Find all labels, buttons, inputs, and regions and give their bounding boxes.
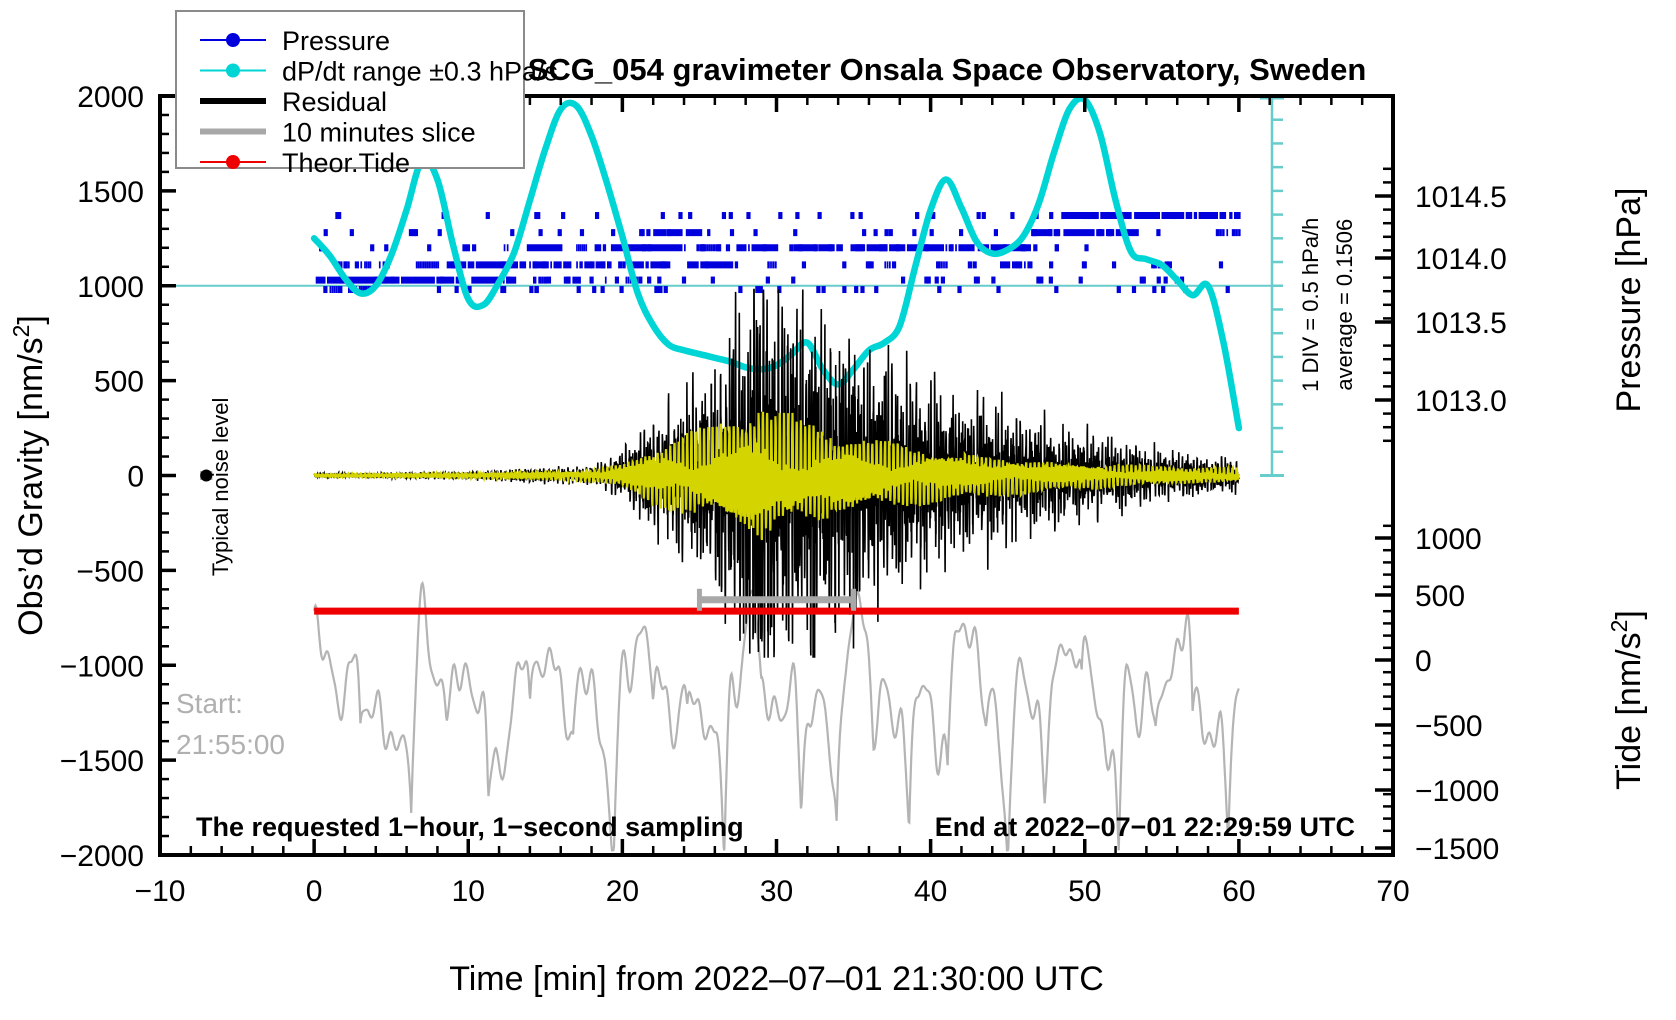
pressure-sample: [678, 212, 682, 219]
pressure-sample: [789, 244, 793, 251]
pressure-sample: [973, 261, 977, 268]
pressure-sample: [818, 212, 822, 219]
pressure-sample: [968, 261, 972, 268]
pressure-sample: [688, 212, 692, 219]
pressure-sample: [607, 261, 611, 268]
pressure-sample: [828, 244, 832, 251]
pressure-sample: [384, 244, 388, 251]
pressure-sample: [619, 286, 623, 293]
y-axis-tide-title: Tide [nm/s2]: [1606, 610, 1648, 790]
pressure-sample: [814, 244, 818, 251]
pressure-sample: [722, 212, 726, 219]
pressure-sample: [1084, 244, 1088, 251]
pressure-sample: [1083, 261, 1087, 268]
dpdt-average-label: average = 0.1506: [1332, 219, 1357, 391]
pressure-sample: [601, 286, 605, 293]
pressure-sample: [957, 286, 961, 293]
pressure-sample: [1021, 244, 1025, 251]
pressure-sample: [842, 286, 846, 293]
pressure-sample: [937, 286, 941, 293]
pressure-sample: [654, 286, 658, 293]
pressure-sample: [1054, 286, 1058, 293]
pressure-axis-tick-label: 1013.5: [1415, 307, 1507, 340]
tide-axis-tick-label: 500: [1415, 580, 1465, 613]
pressure-sample: [1164, 277, 1168, 284]
pressure-sample: [566, 277, 570, 284]
legend-label: dP/dt range ±0.3 hPa/s: [282, 57, 558, 87]
pressure-sample: [901, 277, 905, 284]
x-axis-tick-label: 70: [1376, 875, 1409, 908]
pressure-sample: [883, 244, 887, 251]
pressure-sample: [589, 277, 593, 284]
pressure-sample: [991, 277, 995, 284]
pressure-sample: [912, 229, 916, 236]
pressure-sample: [1142, 277, 1146, 284]
pressure-sample: [859, 244, 863, 251]
x-axis-tick-label: 10: [452, 875, 485, 908]
y-axis-tick-label: 1500: [77, 176, 144, 209]
start-label: Start:: [176, 688, 243, 719]
pressure-sample: [638, 277, 642, 284]
pressure-sample: [558, 229, 562, 236]
tide-axis-tick-label: 1000: [1415, 523, 1482, 556]
pressure-sample: [1098, 229, 1102, 236]
pressure-sample: [889, 229, 893, 236]
pressure-sample: [1171, 212, 1175, 219]
pressure-sample: [793, 229, 797, 236]
pressure-sample: [1161, 286, 1165, 293]
pressure-sample: [866, 261, 870, 268]
pressure-sample: [335, 212, 339, 219]
pressure-sample: [915, 212, 919, 219]
pressure-sample: [595, 212, 599, 219]
legend-label: Residual: [282, 87, 387, 117]
pressure-sample: [802, 261, 806, 268]
pressure-sample: [533, 261, 537, 268]
x-axis-title: Time [min] from 2022–07–01 21:30:00 UTC: [449, 960, 1104, 998]
x-axis-tick-label: 30: [760, 875, 793, 908]
pressure-sample: [1033, 244, 1037, 251]
pressure-sample: [664, 286, 668, 293]
x-axis-tick-label: 50: [1068, 875, 1101, 908]
pressure-sample: [618, 261, 622, 268]
pressure-sample: [798, 244, 802, 251]
legend-label: 10 minutes slice: [282, 118, 476, 148]
dpdt-div-label: 1 DIV = 0.5 hPa/h: [1298, 218, 1323, 392]
pressure-sample: [661, 212, 665, 219]
pressure-sample: [1049, 261, 1053, 268]
chart-title: SCG_054 gravimeter Onsala Space Observat…: [528, 52, 1367, 87]
pressure-sample: [561, 212, 565, 219]
pressure-sample: [1132, 286, 1136, 293]
pressure-sample: [370, 244, 374, 251]
pressure-sample: [611, 229, 615, 236]
pressure-sample: [976, 277, 980, 284]
pressure-sample: [472, 244, 476, 251]
pressure-sample: [746, 212, 750, 219]
pressure-sample: [1087, 212, 1091, 219]
pressure-sample: [1157, 277, 1161, 284]
pressure-sample: [437, 286, 441, 293]
pressure-sample: [324, 229, 328, 236]
pressure-sample: [935, 277, 939, 284]
tide-axis-tick-label: −1000: [1415, 775, 1499, 808]
pressure-sample: [1049, 212, 1053, 219]
pressure-sample: [440, 277, 444, 284]
pressure-sample: [502, 286, 506, 293]
pressure-sample: [427, 244, 431, 251]
pressure-sample: [896, 244, 900, 251]
pressure-sample: [355, 261, 359, 268]
pressure-sample: [1226, 286, 1230, 293]
y-axis-pressure-title: Pressure [hPa]: [1610, 188, 1648, 413]
pressure-sample: [996, 286, 1000, 293]
pressure-sample: [705, 261, 709, 268]
pressure-sample: [1112, 261, 1116, 268]
pressure-sample: [642, 244, 646, 251]
pressure-sample: [592, 286, 596, 293]
chart-figure: 1 DIV = 0.5 hPa/haverage = 0.1506Typical…: [0, 0, 1676, 1020]
legend-marker: [226, 33, 240, 47]
y-axis-tick-label: 1000: [77, 271, 144, 304]
pressure-sample: [338, 286, 342, 293]
pressure-axis-tick-label: 1013.0: [1415, 385, 1507, 418]
pressure-sample: [1219, 261, 1223, 268]
pressure-sample: [1055, 229, 1059, 236]
pressure-sample: [666, 229, 670, 236]
pressure-sample: [862, 229, 866, 236]
pressure-axis-tick-label: 1014.0: [1415, 243, 1507, 276]
tide-axis-tick-label: −500: [1415, 710, 1483, 743]
pressure-sample: [766, 277, 770, 284]
pressure-sample: [615, 277, 619, 284]
pressure-sample: [717, 244, 721, 251]
pressure-sample: [850, 212, 854, 219]
pressure-sample: [791, 277, 795, 284]
pressure-sample: [711, 277, 715, 284]
footer-right-note: End at 2022−07−01 22:29:59 UTC: [935, 812, 1355, 842]
x-axis-tick-label: 40: [914, 875, 947, 908]
pressure-sample: [663, 261, 667, 268]
pressure-sample: [892, 261, 896, 268]
pressure-sample: [350, 229, 354, 236]
pressure-sample: [658, 286, 662, 293]
x-axis-tick-label: 20: [606, 875, 639, 908]
pressure-sample: [959, 229, 963, 236]
pressure-sample: [647, 244, 651, 251]
pressure-sample: [1048, 229, 1052, 236]
pressure-sample: [729, 212, 733, 219]
y-axis-tick-label: −1000: [60, 650, 144, 683]
y-axis-tick-label: 500: [94, 366, 144, 399]
pressure-sample: [1127, 212, 1131, 219]
x-axis-tick-label: −10: [135, 875, 186, 908]
pressure-sample: [409, 229, 413, 236]
pressure-sample: [414, 229, 418, 236]
legend-label: Theor.Tide: [282, 148, 410, 178]
pressure-sample: [542, 261, 546, 268]
legend-marker: [226, 64, 240, 78]
pressure-sample: [646, 229, 650, 236]
pressure-sample: [936, 261, 940, 268]
pressure-sample: [982, 212, 986, 219]
pressure-sample: [874, 229, 878, 236]
pressure-sample: [1156, 229, 1160, 236]
pressure-sample: [462, 244, 466, 251]
pressure-sample: [821, 286, 825, 293]
pressure-sample: [884, 229, 888, 236]
y-axis-tick-label: −2000: [60, 840, 144, 873]
y-axis-tick-label: −1500: [60, 745, 144, 778]
pressure-sample: [730, 229, 734, 236]
pressure-sample: [391, 277, 395, 284]
pressure-sample: [647, 277, 651, 284]
pressure-sample: [753, 229, 757, 236]
pressure-sample: [536, 212, 540, 219]
pressure-sample: [925, 244, 929, 251]
pressure-sample: [1055, 244, 1059, 251]
pressure-sample: [639, 229, 643, 236]
legend-marker: [226, 155, 240, 169]
pressure-sample: [977, 212, 981, 219]
pressure-sample: [854, 286, 858, 293]
pressure-sample: [1083, 212, 1087, 219]
pressure-sample: [580, 229, 584, 236]
pressure-sample: [1092, 212, 1096, 219]
pressure-sample: [726, 244, 730, 251]
pressure-sample: [577, 286, 581, 293]
pressure-sample: [682, 277, 686, 284]
footer-left-note: The requested 1−hour, 1−second sampling: [196, 812, 744, 842]
pressure-sample: [1033, 229, 1037, 236]
pressure-sample: [701, 244, 705, 251]
tide-axis-tick-label: −1500: [1415, 833, 1499, 866]
pressure-sample: [926, 277, 930, 284]
pressure-sample: [1061, 212, 1065, 219]
pressure-sample: [343, 261, 347, 268]
start-time: 21:55:00: [176, 729, 285, 760]
chart-svg: 1 DIV = 0.5 hPa/haverage = 0.1506Typical…: [0, 0, 1676, 1020]
pressure-sample: [994, 229, 998, 236]
pressure-sample: [816, 286, 820, 293]
pressure-axis-tick-label: 1014.5: [1415, 181, 1507, 214]
pressure-sample: [510, 229, 514, 236]
pressure-sample: [486, 212, 490, 219]
pressure-sample: [323, 286, 327, 293]
pressure-sample: [874, 286, 878, 293]
pressure-sample: [657, 277, 661, 284]
y-axis-left-title: Obs’d Gravity [nm/s2]: [8, 315, 50, 636]
pressure-sample: [438, 229, 442, 236]
pressure-sample: [855, 244, 859, 251]
x-axis-tick-label: 0: [306, 875, 323, 908]
pressure-sample: [1016, 261, 1020, 268]
typical-noise-level-label: Typical noise level: [208, 398, 233, 577]
y-axis-tick-label: 0: [127, 461, 144, 494]
pressure-sample: [795, 212, 799, 219]
pressure-sample: [547, 277, 551, 284]
x-axis-tick-label: 60: [1222, 875, 1255, 908]
pressure-sample: [738, 286, 742, 293]
pressure-sample: [949, 244, 953, 251]
pressure-sample: [778, 212, 782, 219]
legend-label: Pressure: [282, 26, 390, 56]
y-axis-tick-label: −500: [76, 555, 144, 588]
pressure-sample: [1036, 277, 1040, 284]
tide-axis-tick-label: 0: [1415, 645, 1432, 678]
pressure-sample: [860, 286, 864, 293]
pressure-sample: [506, 277, 510, 284]
pressure-sample: [755, 286, 759, 293]
pressure-sample: [1117, 286, 1121, 293]
pressure-sample: [941, 277, 945, 284]
pressure-sample: [529, 286, 533, 293]
pressure-sample: [1049, 277, 1053, 284]
pressure-sample: [879, 244, 883, 251]
pressure-sample: [1152, 286, 1156, 293]
pressure-sample: [763, 244, 767, 251]
pressure-sample: [534, 286, 538, 293]
y-axis-tick-label: 2000: [77, 81, 144, 114]
pressure-sample: [859, 212, 863, 219]
pressure-sample: [590, 261, 594, 268]
pressure-sample: [930, 229, 934, 236]
pressure-sample: [601, 261, 605, 268]
pressure-sample: [1108, 229, 1112, 236]
pressure-sample: [842, 261, 846, 268]
pressure-sample: [539, 229, 543, 236]
pressure-sample: [455, 286, 459, 293]
pressure-sample: [1010, 212, 1014, 219]
pressure-sample: [1079, 277, 1083, 284]
